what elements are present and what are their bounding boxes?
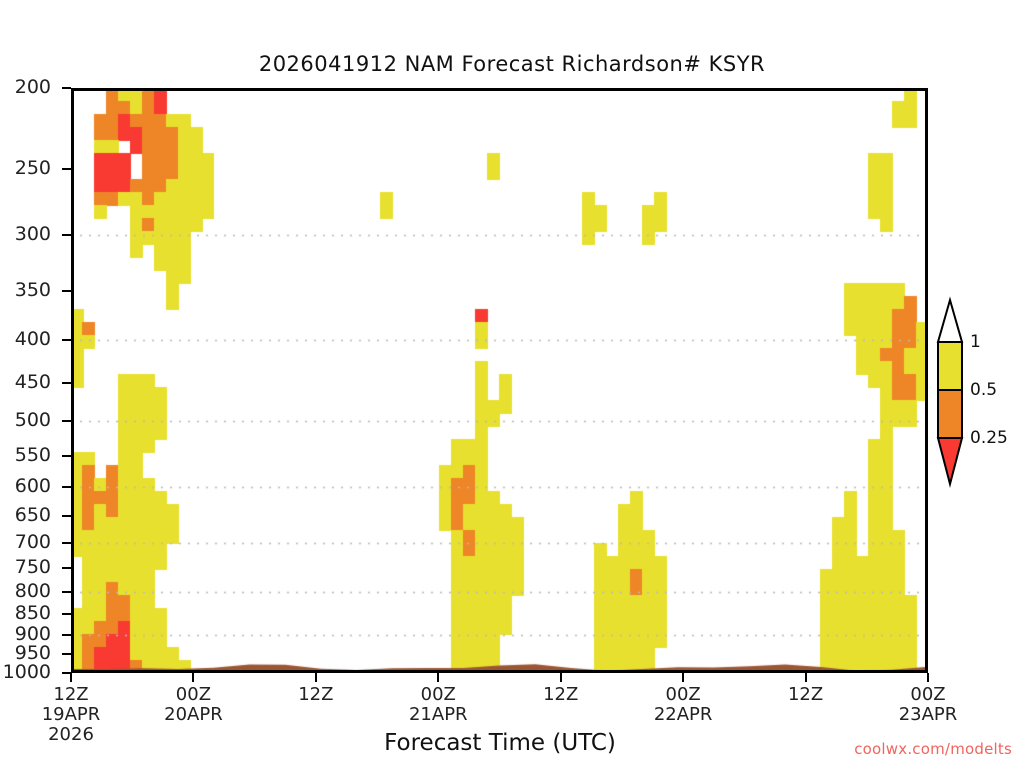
x-axis-label-group-0: 12Z19APR2026 (11, 685, 131, 745)
y-axis-tick-250 (62, 168, 71, 170)
x-axis-label-group-6: 12Z (746, 685, 866, 705)
y-axis-tick-200 (62, 87, 71, 89)
y-axis-label-600: 600 (15, 477, 51, 496)
y-axis-label-500: 500 (15, 411, 51, 430)
x-axis-label-group-3: 00Z21APR (378, 685, 498, 725)
y-axis-label-450: 450 (15, 373, 51, 392)
y-axis-tick-600 (62, 486, 71, 488)
richardson-heatmap-canvas (71, 88, 928, 673)
y-axis-label-200: 200 (15, 78, 51, 97)
colorbar-tick-1: 1 (970, 332, 981, 352)
x-axis-tick-4 (560, 673, 562, 682)
x-axis-date-0: 19APR (11, 705, 131, 725)
y-axis-tick-500 (62, 420, 71, 422)
y-axis-tick-350 (62, 290, 71, 292)
y-axis-tick-750 (62, 567, 71, 569)
x-axis-date-5: 22APR (623, 705, 743, 725)
x-axis-tick-5 (682, 673, 684, 682)
x-axis-label-group-2: 12Z (256, 685, 376, 705)
x-axis-label-group-7: 00Z23APR (868, 685, 988, 725)
y-axis-label-350: 350 (15, 281, 51, 300)
x-axis-time-0: 12Z (11, 685, 131, 705)
x-axis-time-2: 12Z (256, 685, 376, 705)
x-axis-date-3: 21APR (378, 705, 498, 725)
x-axis-time-1: 00Z (133, 685, 253, 705)
y-axis-label-750: 750 (15, 558, 51, 577)
x-axis-title: Forecast Time (UTC) (180, 730, 820, 756)
y-axis-tick-900 (62, 634, 71, 636)
y-axis-label-300: 300 (15, 225, 51, 244)
colorbar-tick-0.25: 0.25 (970, 428, 1008, 448)
x-axis-tick-6 (805, 673, 807, 682)
x-axis-time-3: 00Z (378, 685, 498, 705)
y-axis-label-550: 550 (15, 446, 51, 465)
y-axis-tick-800 (62, 591, 71, 593)
y-axis-labels: 2002503003504004505005506006507007508008… (0, 0, 71, 768)
colorbar: 1 0.5 0.25 (936, 292, 1024, 492)
y-axis-tick-950 (62, 653, 71, 655)
y-axis-label-400: 400 (15, 330, 51, 349)
y-axis-label-250: 250 (15, 159, 51, 178)
y-axis-tick-650 (62, 515, 71, 517)
chart-title: 2026041912 NAM Forecast Richardson# KSYR (0, 52, 1024, 76)
colorbar-band-yellow (938, 342, 962, 390)
y-axis-label-800: 800 (15, 582, 51, 601)
y-axis-label-850: 850 (15, 604, 51, 623)
y-axis-label-900: 900 (15, 625, 51, 644)
x-axis-time-7: 00Z (868, 685, 988, 705)
x-axis-time-4: 12Z (501, 685, 621, 705)
y-axis-tick-300 (62, 234, 71, 236)
y-axis-tick-700 (62, 542, 71, 544)
y-axis-tick-550 (62, 455, 71, 457)
x-axis-time-6: 12Z (746, 685, 866, 705)
y-axis-label-650: 650 (15, 506, 51, 525)
y-axis-label-1000: 1000 (3, 663, 51, 682)
colorbar-over-arrow (938, 300, 962, 342)
x-axis-tick-0 (70, 673, 72, 682)
x-axis-date-1: 20APR (133, 705, 253, 725)
x-axis-tick-7 (927, 673, 929, 682)
colorbar-tick-0.5: 0.5 (970, 380, 997, 400)
x-axis-tick-2 (315, 673, 317, 682)
y-axis-tick-450 (62, 382, 71, 384)
x-axis-time-5: 00Z (623, 685, 743, 705)
chart-page: 2026041912 NAM Forecast Richardson# KSYR… (0, 0, 1024, 768)
colorbar-under-arrow (938, 438, 962, 484)
x-axis-tick-1 (192, 673, 194, 682)
x-axis-year-0: 2026 (11, 725, 131, 745)
y-axis-tick-400 (62, 339, 71, 341)
x-axis-tick-3 (437, 673, 439, 682)
x-axis-date-7: 23APR (868, 705, 988, 725)
watermark: coolwx.com/modelts (854, 740, 1012, 758)
colorbar-band-orange (938, 390, 962, 438)
x-axis-label-group-5: 00Z22APR (623, 685, 743, 725)
x-axis-label-group-1: 00Z20APR (133, 685, 253, 725)
y-axis-tick-850 (62, 613, 71, 615)
y-axis-label-700: 700 (15, 533, 51, 552)
x-axis-label-group-4: 12Z (501, 685, 621, 705)
